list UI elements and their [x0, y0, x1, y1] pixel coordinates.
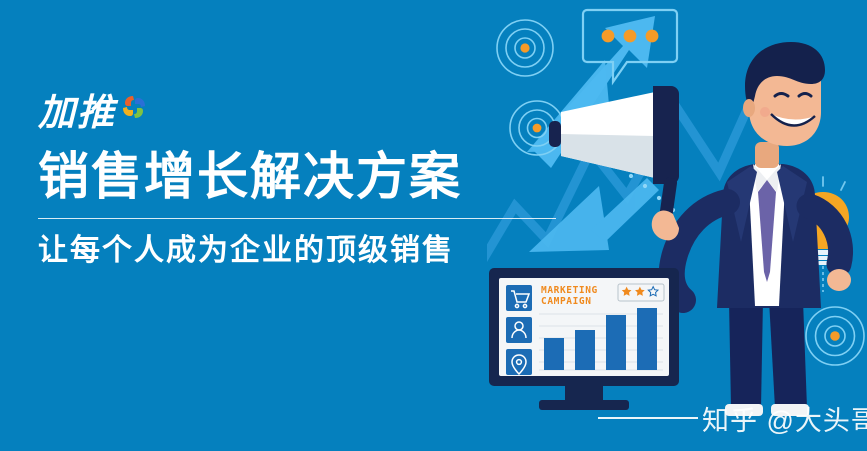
- hand-right: [827, 269, 851, 291]
- speech-dot-2: [624, 30, 637, 43]
- headline-block: 加推 销售增长解决方案 让每个人成为企业的顶级销售: [38, 92, 518, 269]
- watermark-text: 知乎 @大头哥: [702, 399, 867, 438]
- hand-left: [652, 211, 679, 241]
- page-title: 销售增长解决方案: [38, 148, 518, 206]
- target-top-left-center: [520, 43, 529, 52]
- bar-2: [575, 330, 595, 370]
- screen-sidebar-icons: [506, 285, 532, 375]
- brand-row: 加推: [38, 92, 518, 138]
- growth-arrow-small: [529, 178, 659, 252]
- illustration-artwork: MARKETING CAMPAIGN: [487, 0, 867, 451]
- bar-4: [637, 308, 657, 370]
- page-subtitle: 让每个人成为企业的顶级销售: [38, 233, 518, 269]
- bar-1: [544, 338, 564, 370]
- businessman-figure: [652, 42, 851, 416]
- bar-3: [606, 315, 626, 370]
- leg-left: [729, 300, 763, 408]
- monitor-illustration: MARKETING CAMPAIGN: [489, 268, 679, 410]
- watermark: 知乎 @大头哥: [598, 398, 867, 438]
- leg-right: [769, 300, 807, 408]
- screen-title-line1: MARKETING: [541, 285, 598, 296]
- target-mid-left-center: [533, 124, 542, 133]
- brand-name: 加推: [38, 92, 116, 134]
- speech-dot-3: [646, 30, 659, 43]
- sales-growth-banner: MARKETING CAMPAIGN: [0, 0, 867, 451]
- speech-dot-1: [602, 30, 615, 43]
- screen-title-line2: CAMPAIGN: [541, 296, 592, 307]
- title-divider: [38, 218, 556, 219]
- pinwheel-logo-icon: [121, 94, 147, 120]
- watermark-line: [598, 417, 698, 419]
- target-bottom-right-center: [830, 331, 840, 341]
